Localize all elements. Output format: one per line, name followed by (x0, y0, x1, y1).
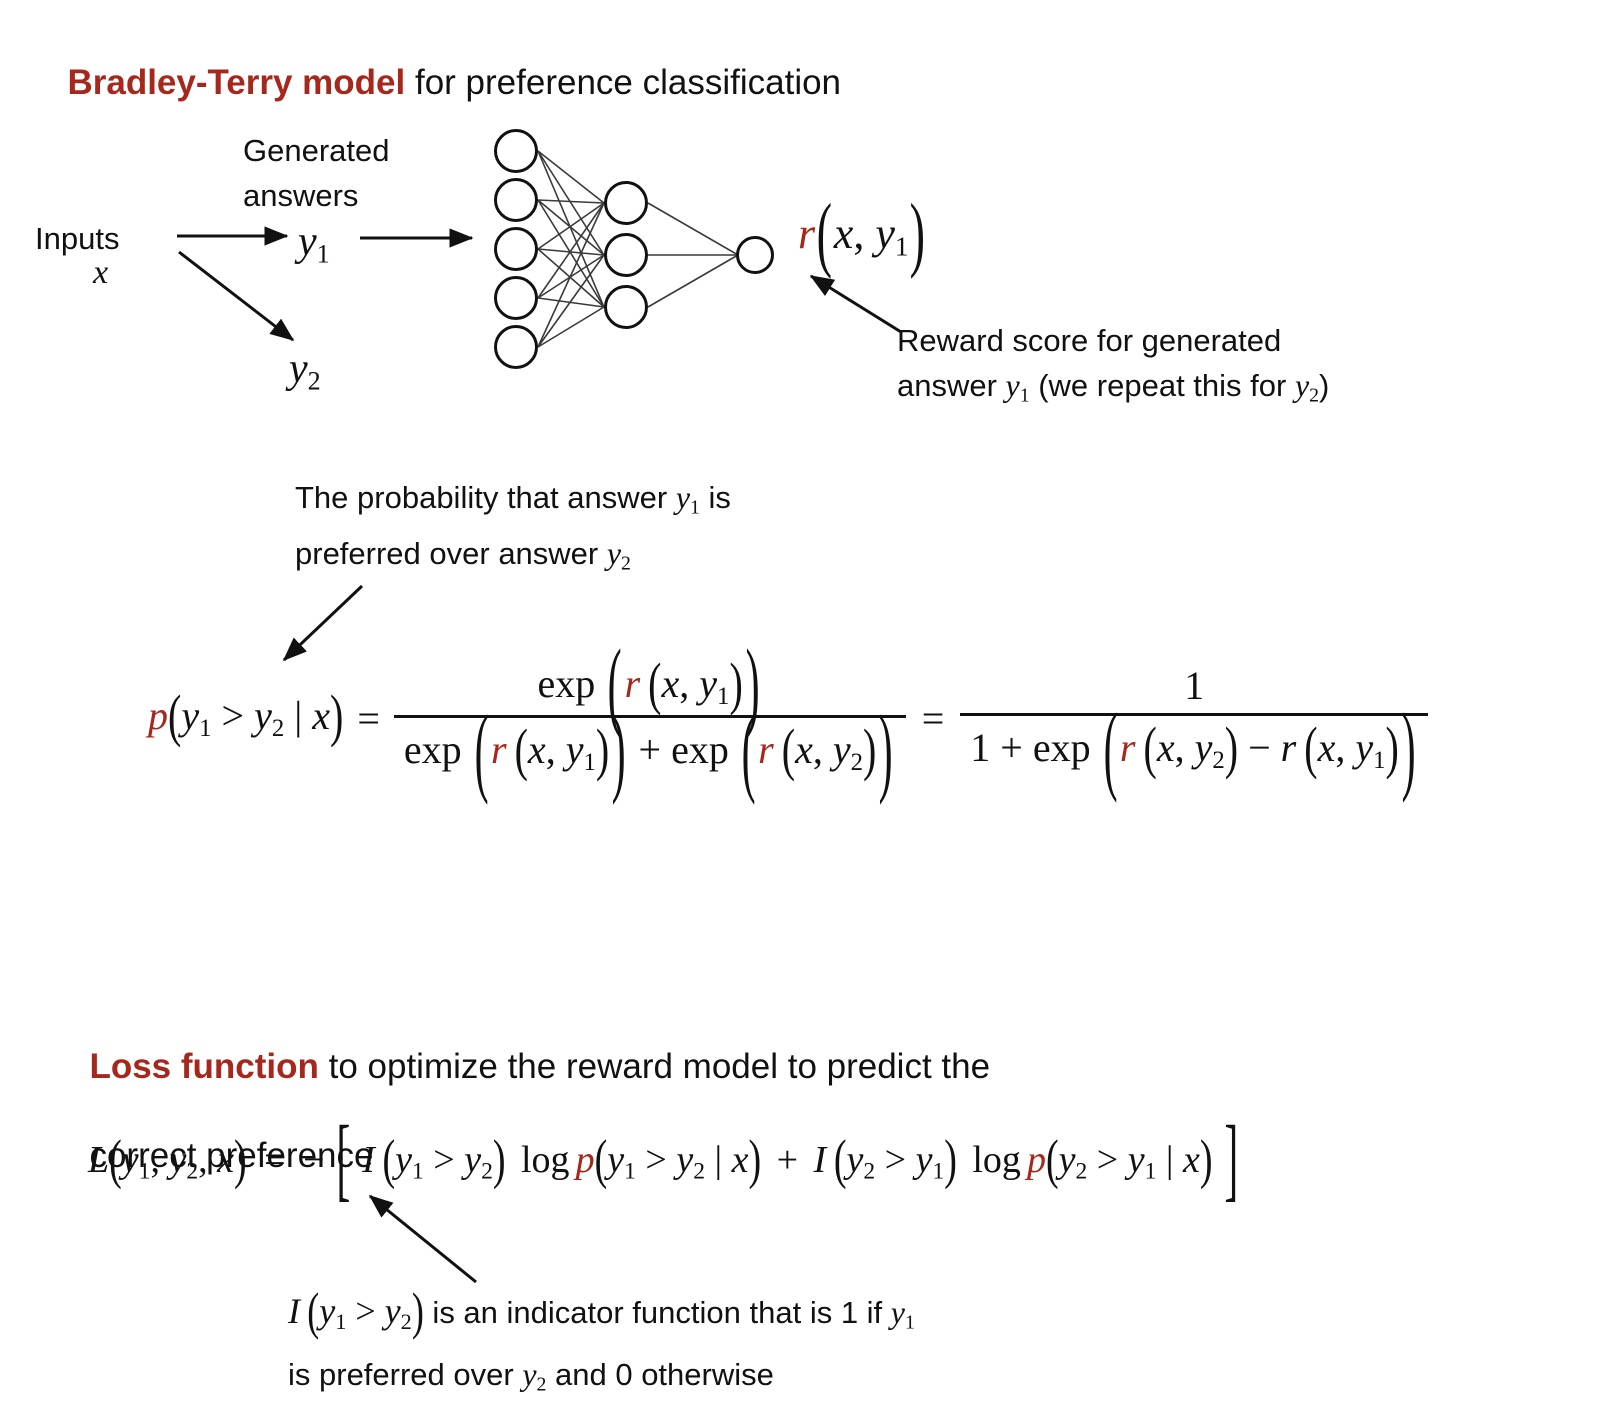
loss-bracket-close: ] (1224, 1106, 1238, 1214)
indicator-note-line1: I (y1 > y2) is an indicator function tha… (288, 1285, 915, 1349)
probability-numerator-2: 1 (960, 662, 1428, 713)
log-label-1: log (515, 1139, 576, 1181)
probability-denominator-2: 1 + exp (r (x, y2) − r (x, y1)) (960, 713, 1428, 775)
network-node-hidden-1 (604, 181, 648, 225)
generated-answers-line1: Generated (243, 128, 390, 173)
inputs-label-text: Inputs (35, 221, 119, 256)
loss-symbol: L (88, 1139, 109, 1181)
network-node-input-5 (494, 325, 538, 369)
probability-fraction-2: 1 1 + exp (r (x, y2) − r (x, y1)) (960, 662, 1428, 775)
indicator-note-expression: I (y1 > y2) (288, 1291, 424, 1331)
network-node-hidden-2 (604, 233, 648, 277)
network-node-input-2 (494, 178, 538, 222)
neural-network-diagram (490, 125, 790, 365)
reward-score-note-line1: Reward score for generated (897, 318, 1329, 363)
page-title-rest: for preference classification (405, 63, 841, 102)
indicator-note: I (y1 > y2) is an indicator function tha… (288, 1285, 915, 1410)
network-node-input-4 (494, 276, 538, 320)
probability-note: The probability that answer y1 is prefer… (295, 475, 731, 586)
arrow-to-indicator (360, 1190, 490, 1290)
indicator-symbol-1: I (362, 1139, 375, 1181)
probability-lhs: p(y1 > y2 | x) (148, 692, 343, 745)
network-node-input-3 (494, 227, 538, 271)
indicator-symbol-2: I (814, 1139, 827, 1181)
probability-equals-2: = (906, 695, 961, 742)
reward-score-note-line2: answer y1 (we repeat this for y2) (897, 363, 1329, 419)
generated-answers-label: Generated answers (243, 128, 390, 218)
loss-p-symbol-1: p (576, 1139, 595, 1181)
network-node-hidden-3 (604, 285, 648, 329)
probability-note-line2: preferred over answer y2 (295, 531, 731, 587)
reward-output-expression: r(x, y1) (798, 208, 927, 263)
answer-y2-label: y2 (289, 345, 321, 396)
probability-denominator-1: exp (r (x, y1)) + exp (r (x, y2)) (394, 715, 906, 777)
probability-numerator-1: exp (r (x, y1)) (394, 660, 906, 715)
loss-equation: L(y1, y2, x) = − [ I (y1 > y2) logp(y1 >… (88, 1138, 1241, 1186)
generated-answers-line2: answers (243, 173, 390, 218)
inputs-variable: x (93, 254, 108, 292)
probability-fraction-1: exp (r (x, y1)) exp (r (x, y1)) + exp (r… (394, 660, 906, 777)
network-node-output (736, 236, 774, 274)
network-node-input-1 (494, 129, 538, 173)
loss-bracket-open: [ (336, 1106, 350, 1214)
probability-p-symbol: p (148, 693, 168, 738)
arrow-y1-to-network (358, 224, 483, 254)
probability-equals-1: = (343, 695, 394, 742)
reward-score-note: Reward score for generated answer y1 (we… (897, 318, 1329, 419)
page-title-emphasis: Bradley-Terry model (67, 63, 405, 102)
loss-p-symbol-2: p (1027, 1139, 1046, 1181)
answer-y1-label: y1 (298, 218, 330, 269)
log-label-2: log (966, 1139, 1027, 1181)
loss-heading-emphasis: Loss function (89, 1047, 318, 1086)
page-title: Bradley-Terry model for preference class… (48, 16, 841, 106)
probability-note-line1: The probability that answer y1 is (295, 475, 731, 531)
indicator-note-line2: is preferred over y2 and 0 otherwise (288, 1349, 915, 1411)
probability-equation: p(y1 > y2 | x) = exp (r (x, y1)) exp (r … (148, 660, 1428, 777)
loss-heading-rest-line1: to optimize the reward model to predict … (319, 1047, 990, 1086)
reward-function-symbol: r (798, 209, 815, 258)
